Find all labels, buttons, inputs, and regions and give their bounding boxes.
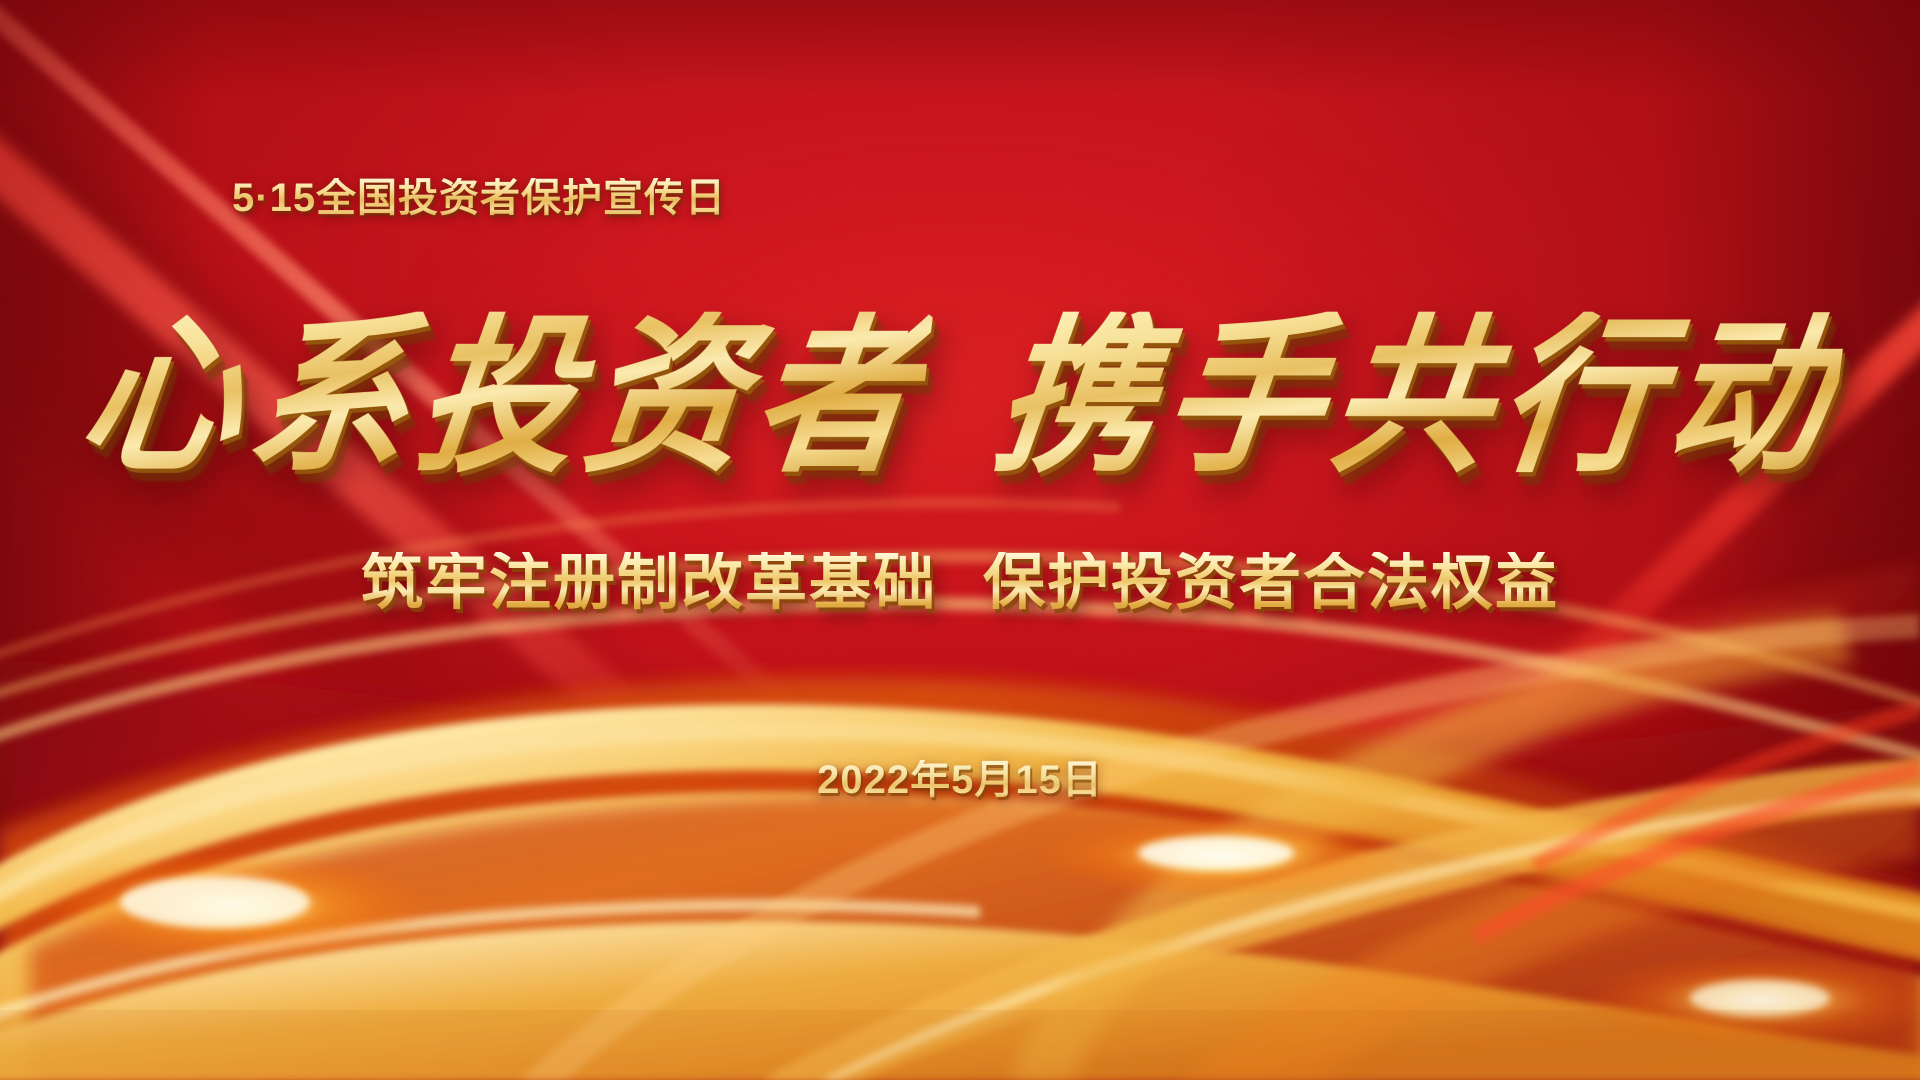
headline-slogan: 心系投资者携手共行动 [0, 318, 1920, 476]
subtitle-slogan: 筑牢注册制改革基础保护投资者合法权益 [0, 552, 1920, 614]
event-date-text: 2022年5月15日 [0, 760, 1920, 800]
subtitle-slogan-part-2: 保护投资者合法权益 [983, 548, 1559, 617]
subtitle-slogan-part-1: 筑牢注册制改革基础 [361, 548, 937, 617]
poster-canvas: 5·15全国投资者保护宣传日 心系投资者携手共行动 筑牢注册制改革基础保护投资者… [0, 0, 1920, 1080]
headline-slogan-part-1: 心系投资者 [73, 312, 934, 483]
headline-slogan-part-2: 携手共行动 [987, 312, 1848, 483]
campaign-eyebrow-text: 5·15全国投资者保护宣传日 [232, 178, 726, 218]
poster-content: 5·15全国投资者保护宣传日 心系投资者携手共行动 筑牢注册制改革基础保护投资者… [0, 0, 1920, 1080]
